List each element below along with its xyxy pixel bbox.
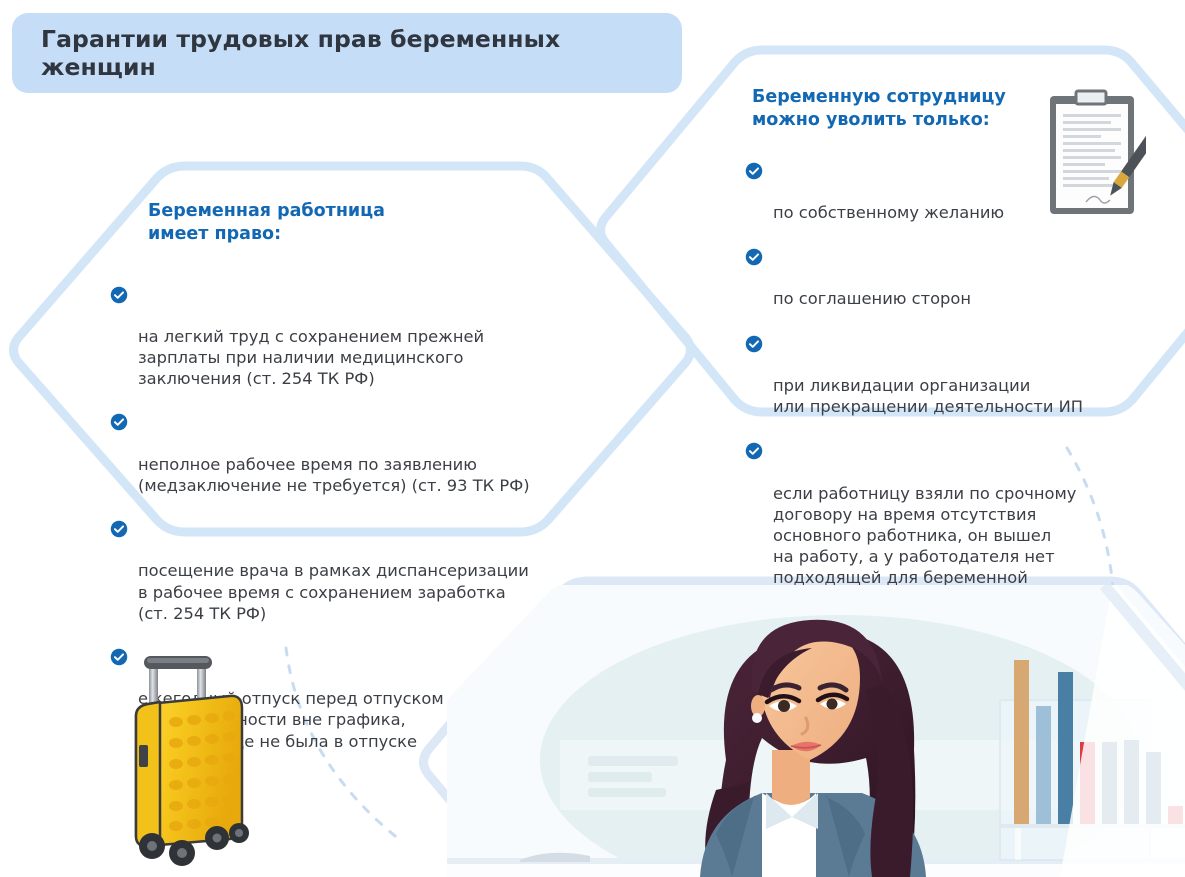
page-title-banner: Гарантии трудовых прав беременных женщин [12,13,682,93]
list-item: неполное рабочее время по заявлению (мед… [110,411,580,496]
check-circle-icon [745,442,763,460]
infographic-canvas: Гарантии трудовых прав беременных женщин… [0,0,1185,877]
list-item-text: по собственному желанию [773,203,1004,222]
list-item: на легкий труд с сохранением прежней зар… [110,284,580,390]
page-title: Гарантии трудовых прав беременных женщин [41,25,682,81]
panel-rights-heading: Беременная работница имеет право: [148,200,580,246]
check-circle-icon [110,413,128,431]
check-circle-icon [745,335,763,353]
suitcase-icon [108,640,278,870]
list-item: по соглашению сторон [745,246,1105,310]
check-circle-icon [745,162,763,180]
list-item-text: неполное рабочее время по заявлению (мед… [138,455,530,495]
check-circle-icon [110,286,128,304]
list-item: при ликвидации организации или прекращен… [745,333,1105,418]
clipboard-document-pen-icon [1046,88,1146,218]
office-scene-illustration [440,585,1185,877]
check-circle-icon [110,520,128,538]
check-circle-icon [745,248,763,266]
list-item-text: на легкий труд с сохранением прежней зар… [138,327,484,388]
list-item-text: по соглашению сторон [773,289,971,308]
panel-dismissal-list: по собственному желанию по соглашению ст… [745,160,1105,610]
list-item-text: при ликвидации организации или прекращен… [773,376,1083,416]
